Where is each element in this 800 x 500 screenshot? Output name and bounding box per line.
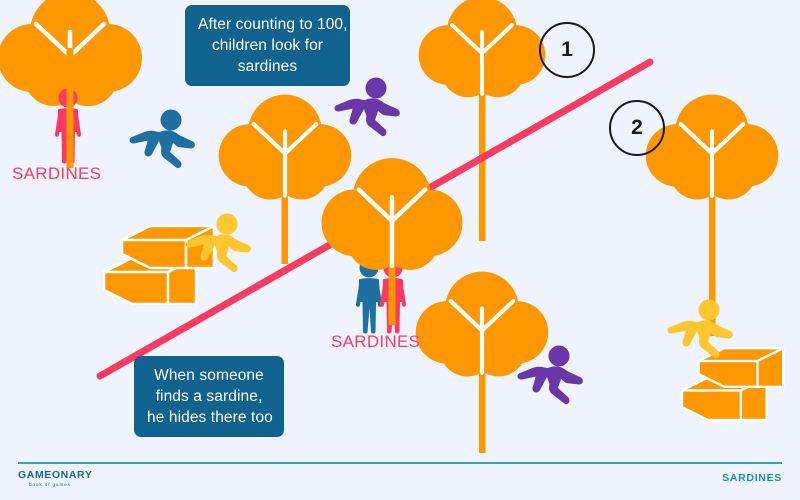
sardines-label-center: SARDINES [331, 332, 420, 352]
callout-hiding-line-1: When someone [147, 365, 271, 386]
tree-bottom-mid [416, 272, 548, 453]
footer-divider [18, 462, 782, 464]
callout-counting: After counting to 100, children look for… [185, 5, 350, 86]
callout-hiding-line-2: finds a sardine, [147, 386, 271, 407]
callout-counting-line-1: After counting to 100, [198, 14, 337, 35]
step-marker-1: 1 [539, 22, 595, 78]
sardines-label-left: SARDINES [12, 164, 101, 184]
tree-right [646, 95, 778, 336]
step-marker-2: 2 [609, 100, 665, 156]
brand-tagline: book of games [29, 483, 92, 488]
runner-purple-top [335, 78, 400, 137]
brand-logo: GAMEONARY book of games [18, 470, 92, 487]
illustration-canvas: After counting to 100, children look for… [0, 0, 800, 500]
footer-topic-label: SARDINES [722, 472, 782, 484]
callout-hiding-line-3: he hides there too [147, 407, 271, 428]
runner-blue [130, 110, 195, 169]
scene-artwork [0, 0, 800, 500]
boxes-right [682, 348, 783, 420]
brand-name: GAMEONARY [18, 470, 92, 481]
callout-hiding: When someone finds a sardine, he hides t… [134, 356, 284, 437]
callout-counting-line-3: sardines [198, 56, 337, 77]
callout-counting-line-2: children look for [198, 35, 337, 56]
